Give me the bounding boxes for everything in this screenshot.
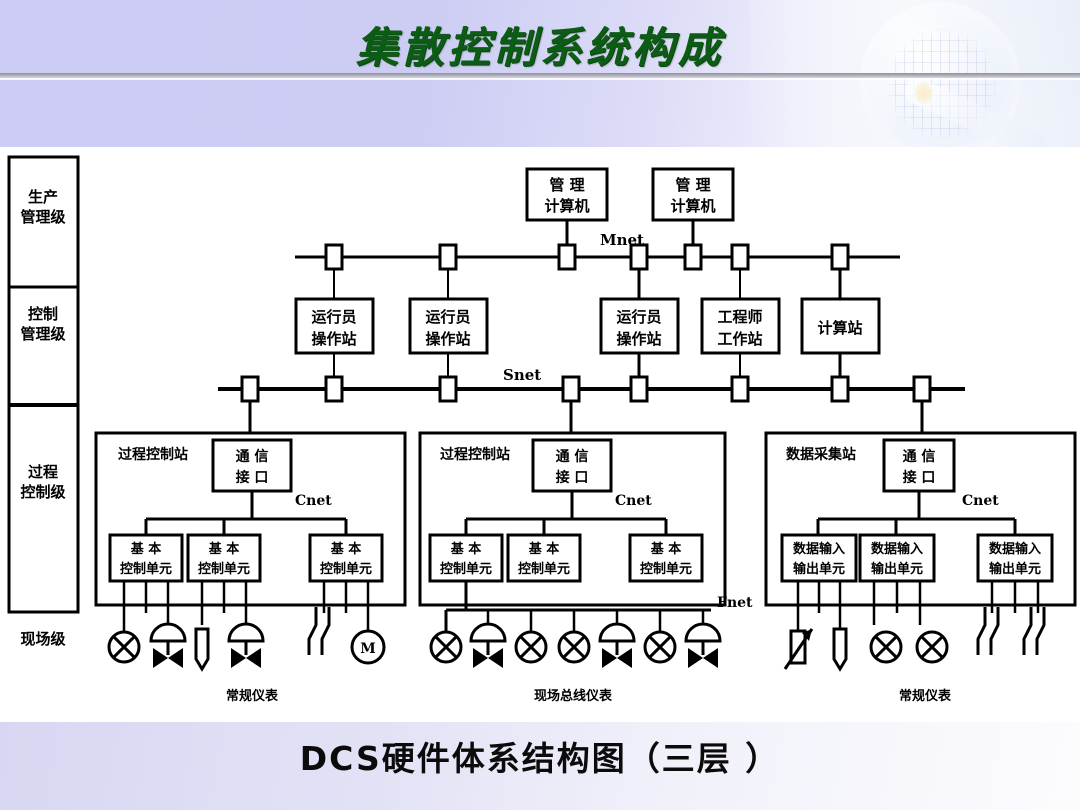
bus-node[interactable]: [563, 377, 579, 401]
sidebar-label-line1: 生产: [28, 188, 58, 206]
process-control-station-2[interactable]: 过程控制站 通 信 接 口 Cnet 基 本 控制单元 基 本 控制单元: [420, 433, 725, 610]
box-label-line1: 基 本: [330, 541, 362, 557]
field-group-label: 常规仪表: [899, 688, 952, 704]
control-valve-icon: [229, 624, 263, 668]
box-label-line1: 管 理: [675, 176, 710, 194]
box-label-line2: 输出单元: [989, 561, 1041, 577]
data-acquisition-station[interactable]: 数据采集站 通 信 接 口 Cnet 数据输入 输出单元 数据输入 输出单元: [766, 433, 1075, 631]
box-label-line1: 数据输入: [871, 541, 923, 557]
snet-label: Snet: [503, 366, 541, 384]
box-label-line2: 操作站: [616, 330, 661, 348]
slide-root: 集散控制系统构成: [0, 0, 1080, 810]
basic-control-unit-3[interactable]: 基 本 控制单元: [630, 535, 702, 581]
fnet-label: Fnet: [717, 595, 753, 611]
box-label-line2: 计算机: [544, 197, 589, 215]
operator-station-1[interactable]: 运行员 操作站: [296, 269, 373, 387]
box-label-line2: 控制单元: [198, 561, 250, 577]
diagram-caption: DCS硬件体系结构图（三层 ）: [0, 732, 1080, 780]
bus-node[interactable]: [732, 377, 748, 401]
box-label-line2: 接 口: [236, 469, 269, 486]
flow-meter-icon: [516, 632, 546, 662]
bus-node[interactable]: [326, 377, 342, 401]
control-valve-icon: [600, 624, 634, 668]
communication-interface[interactable]: 通 信 接 口: [533, 440, 611, 491]
box-label-line1: 通 信: [903, 448, 936, 465]
probe-sensor-icon: [834, 629, 846, 669]
dcs-architecture-diagram: 生产 管理级 控制 管理级 过程 控制级 现场级 管 理 计算机 管 理 计算机: [0, 147, 1080, 722]
bus-node[interactable]: [631, 377, 647, 401]
bus-node[interactable]: [559, 245, 575, 269]
box-label-line2: 控制单元: [518, 561, 570, 577]
motor-icon: M: [352, 631, 384, 663]
sidebar-label-line1: 控制: [28, 305, 58, 323]
sidebar-label-line2: 管理级: [20, 208, 66, 226]
bus-node[interactable]: [914, 377, 930, 401]
basic-control-unit-2[interactable]: 基 本 控制单元: [508, 535, 580, 581]
flow-meter-icon: [431, 632, 461, 662]
page-title: 集散控制系统构成: [0, 14, 1080, 75]
control-valve-icon: [471, 624, 505, 668]
box-label-line2: 输出单元: [793, 561, 845, 577]
box-label-line1: 基 本: [130, 541, 162, 557]
communication-interface[interactable]: 通 信 接 口: [213, 440, 291, 491]
bus-node[interactable]: [832, 377, 848, 401]
box-label-line1: 数据输入: [989, 541, 1041, 557]
box-label-line2: 控制单元: [440, 561, 492, 577]
box-label-line1: 运行员: [311, 308, 356, 326]
operator-station-3[interactable]: 运行员 操作站: [601, 269, 678, 387]
cnet-label: Cnet: [295, 493, 332, 509]
box-label-line1: 运行员: [425, 308, 470, 326]
box-label-line1: 数据输入: [793, 541, 845, 557]
box-label-line1: 计算站: [817, 319, 862, 337]
bus-node[interactable]: [832, 245, 848, 269]
signal-wire-icon: [309, 607, 329, 655]
flow-meter-icon: [645, 632, 675, 662]
basic-control-unit-2[interactable]: 基 本 控制单元: [188, 535, 260, 581]
control-valve-icon: [151, 624, 185, 668]
box-label-line2: 接 口: [556, 469, 589, 486]
box-label-line2: 接 口: [903, 469, 936, 486]
data-io-unit-3[interactable]: 数据输入 输出单元: [978, 535, 1052, 581]
process-control-station-1[interactable]: 过程控制站 通 信 接 口 Cnet 基 本 控制单元 基 本 控制单元: [96, 433, 405, 631]
sidebar-item-field-level: 现场级: [20, 630, 66, 648]
field-devices-group-3: 常规仪表: [785, 607, 1044, 704]
box-label-line1: 运行员: [616, 308, 661, 326]
data-io-unit-1[interactable]: 数据输入 输出单元: [782, 535, 856, 581]
header-divider-highlight: [0, 78, 1080, 80]
basic-control-unit-1[interactable]: 基 本 控制单元: [110, 535, 182, 581]
bus-node[interactable]: [326, 245, 342, 269]
station-title: 数据采集站: [786, 446, 856, 463]
signal-wire-icon: [1024, 607, 1044, 655]
mnet-bus[interactable]: [295, 245, 900, 269]
field-group-label: 现场总线仪表: [534, 688, 613, 704]
operator-station-2[interactable]: 运行员 操作站: [410, 269, 487, 387]
cnet-label: Cnet: [962, 493, 999, 509]
mnet-label: Mnet: [600, 231, 644, 249]
transmitter-icon: [785, 629, 812, 669]
flow-meter-icon: [109, 632, 139, 662]
signal-wire-icon: [978, 607, 998, 655]
box-label-line2: 操作站: [425, 330, 470, 348]
box-label-line2: 输出单元: [871, 561, 923, 577]
box-label-line2: 计算机: [670, 197, 715, 215]
box-label-line1: 通 信: [236, 448, 269, 465]
bus-node[interactable]: [440, 245, 456, 269]
control-valve-icon: [686, 624, 720, 668]
box-label-line1: 通 信: [556, 448, 589, 465]
bus-node[interactable]: [242, 377, 258, 401]
station-title: 过程控制站: [440, 446, 510, 463]
sidebar-label-line1: 过程: [28, 463, 58, 481]
flow-meter-icon: [871, 632, 901, 662]
station-title: 过程控制站: [118, 446, 188, 463]
data-io-unit-2[interactable]: 数据输入 输出单元: [860, 535, 934, 581]
field-devices-group-2: 现场总线仪表: [431, 610, 720, 704]
box-label-line2: 控制单元: [640, 561, 692, 577]
box-label-line1: 工程师: [717, 308, 762, 326]
diagram-canvas: 生产 管理级 控制 管理级 过程 控制级 现场级 管 理 计算机 管 理 计算机: [0, 147, 1080, 722]
slide-header: 集散控制系统构成: [0, 0, 1080, 147]
box-label-line1: 基 本: [528, 541, 560, 557]
basic-control-unit-1[interactable]: 基 本 控制单元: [430, 535, 502, 581]
sidebar-label-line2: 控制级: [20, 483, 66, 501]
box-label-line1: 管 理: [549, 176, 584, 194]
sidebar-label-line2: 管理级: [20, 325, 66, 343]
flow-meter-icon: [917, 632, 947, 662]
compute-station[interactable]: 计算站: [802, 269, 879, 387]
engineer-workstation[interactable]: 工程师 工作站: [702, 269, 779, 387]
communication-interface[interactable]: 通 信 接 口: [884, 440, 954, 491]
probe-sensor-icon: [196, 629, 208, 669]
box-label-line1: 基 本: [650, 541, 682, 557]
box-label-line2: 控制单元: [120, 561, 172, 577]
snet-bus[interactable]: [218, 377, 965, 401]
box-label-line1: 基 本: [450, 541, 482, 557]
bus-node[interactable]: [440, 377, 456, 401]
field-group-label: 常规仪表: [226, 688, 279, 704]
box-label-line2: 操作站: [311, 330, 356, 348]
box-label-line2: 控制单元: [320, 561, 372, 577]
bus-node[interactable]: [732, 245, 748, 269]
box-label-line2: 工作站: [717, 330, 762, 348]
bus-node[interactable]: [685, 245, 701, 269]
motor-label: M: [360, 641, 376, 657]
basic-control-unit-3[interactable]: 基 本 控制单元: [310, 535, 382, 581]
cnet-label: Cnet: [615, 493, 652, 509]
flow-meter-icon: [559, 632, 589, 662]
box-label-line1: 基 本: [208, 541, 240, 557]
